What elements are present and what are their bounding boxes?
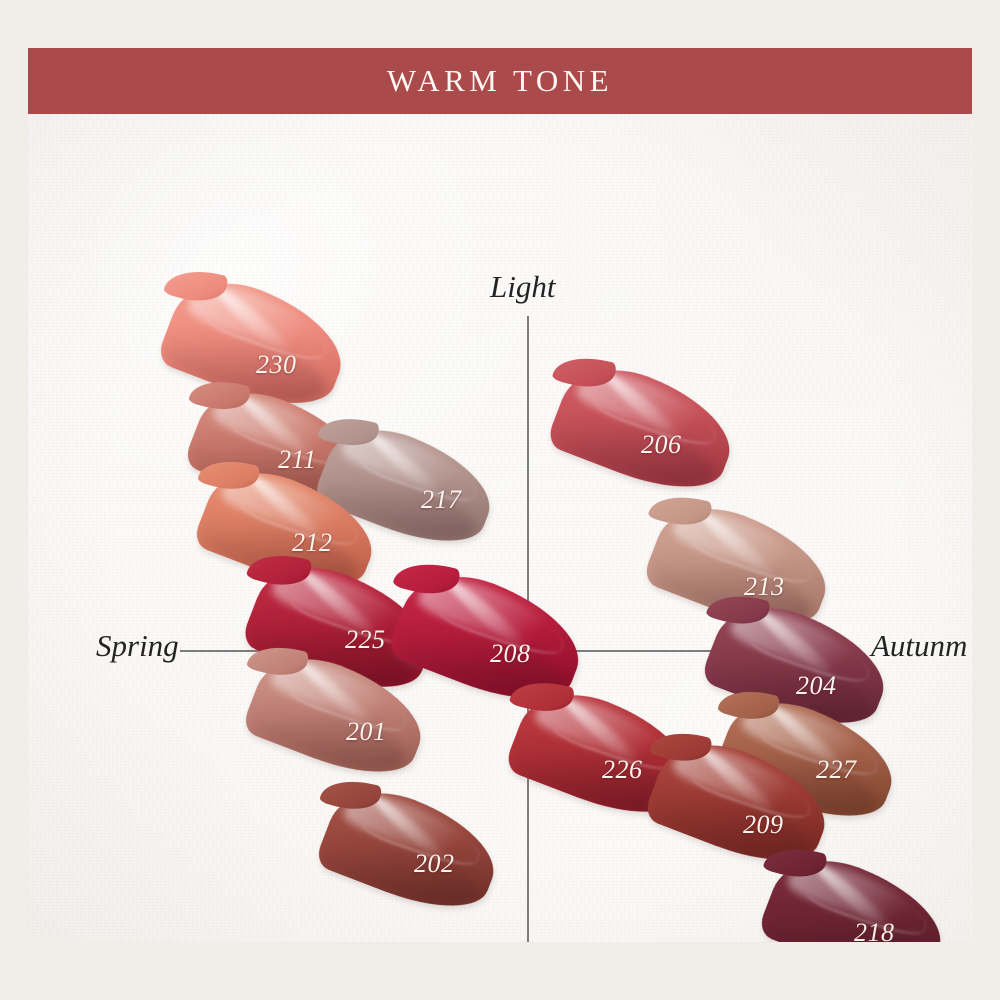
chart-paper-panel: 2302112172122252082012022062132042272262… [28,114,972,942]
lip-swatch-218[interactable] [756,842,955,942]
axis-label-spring: Spring [96,628,179,664]
axis-label-autumn: Autunm [871,628,967,664]
axis-label-light: Light [490,269,555,305]
header-banner: WARM TONE [28,48,972,114]
lip-swatch-202[interactable] [314,774,509,925]
lip-shade-chart-page: WARM TONE 230211217212225208201202206213… [0,0,1000,1000]
page-title: WARM TONE [387,63,613,99]
lip-swatch-206[interactable] [545,351,745,507]
